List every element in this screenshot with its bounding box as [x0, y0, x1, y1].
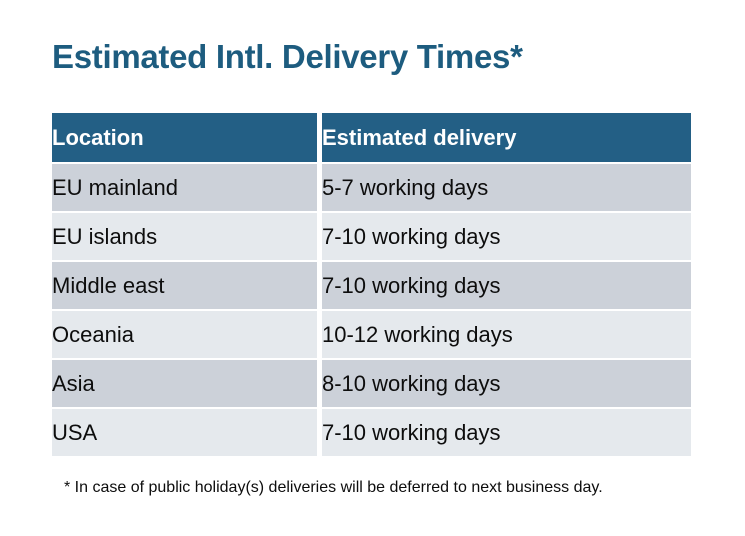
- column-header-location: Location: [52, 113, 317, 162]
- table-header-row: Location Estimated delivery: [52, 113, 691, 162]
- table-row: EU mainland 5-7 working days: [52, 164, 691, 211]
- cell-location: USA: [52, 409, 317, 456]
- cell-location: Oceania: [52, 311, 317, 358]
- estimated-delivery-table: Location Estimated delivery EU mainland …: [52, 113, 691, 456]
- cell-location: EU islands: [52, 213, 317, 260]
- table-row: EU islands 7-10 working days: [52, 213, 691, 260]
- cell-delivery: 10-12 working days: [322, 311, 691, 358]
- cell-delivery: 8-10 working days: [322, 360, 691, 407]
- cell-delivery: 7-10 working days: [322, 262, 691, 309]
- table-row: Middle east 7-10 working days: [52, 262, 691, 309]
- page-title: Estimated Intl. Delivery Times*: [52, 38, 523, 76]
- table-body: EU mainland 5-7 working days EU islands …: [52, 162, 691, 456]
- footnote: * In case of public holiday(s) deliverie…: [64, 479, 603, 497]
- table-header: Location Estimated delivery: [52, 113, 691, 162]
- cell-location: Middle east: [52, 262, 317, 309]
- table-row: Asia 8-10 working days: [52, 360, 691, 407]
- table-row: Oceania 10-12 working days: [52, 311, 691, 358]
- delivery-times-page: Estimated Intl. Delivery Times* Location…: [0, 0, 745, 536]
- cell-location: EU mainland: [52, 164, 317, 211]
- cell-delivery: 7-10 working days: [322, 409, 691, 456]
- cell-delivery: 7-10 working days: [322, 213, 691, 260]
- table-row: USA 7-10 working days: [52, 409, 691, 456]
- column-header-estimated-delivery: Estimated delivery: [322, 113, 691, 162]
- cell-delivery: 5-7 working days: [322, 164, 691, 211]
- cell-location: Asia: [52, 360, 317, 407]
